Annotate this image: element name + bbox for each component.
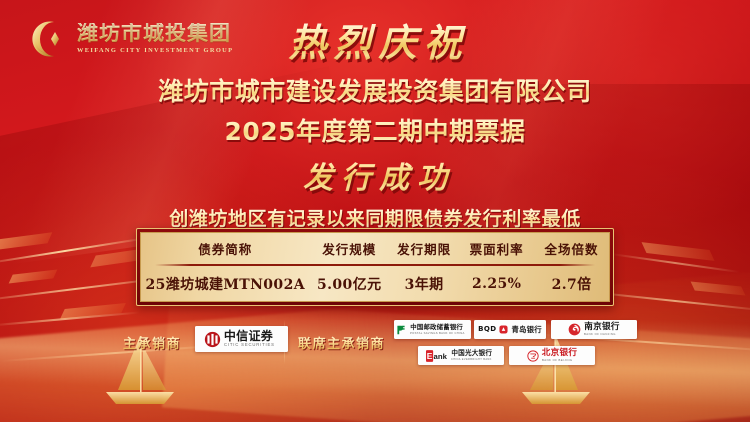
logo-psbc-cn: 中国邮政储蓄银行 — [410, 324, 469, 330]
logo-bqd-en: BQD — [478, 326, 496, 333]
column-header-subscription-multiple: 全场倍数 — [534, 234, 609, 264]
celebration-poster: 潍坊市城投集团 WEIFANG CITY INVESTMENT GROUP 热烈… — [0, 0, 750, 422]
headline-block: 热烈庆祝 潍坊市城市建设发展投资集团有限公司 2025年度第二期中期票据 发行成… — [0, 22, 750, 231]
svg-text:E: E — [427, 351, 433, 361]
logo-citic-securities: 中信证券 CITIC SECURITIES — [195, 326, 288, 352]
cell-subscription-multiple: 2.7倍 — [534, 266, 609, 300]
logo-bqd-cn: 青岛银行 — [511, 326, 541, 333]
logo-citic-cn: 中信证券 — [224, 330, 279, 342]
postal-bank-icon — [395, 324, 407, 336]
column-header-issue-term: 发行期限 — [389, 234, 459, 264]
lead-underwriter-label: 主承销商 — [123, 333, 181, 352]
logo-citic-en: CITIC SECURITIES — [224, 343, 275, 347]
everbright-bank-icon: E ank — [426, 350, 448, 362]
logo-beijing-en: BANK OF BEIJING — [542, 359, 575, 362]
citic-seal-icon — [204, 331, 221, 348]
cell-issue-term: 3年期 — [389, 266, 459, 300]
beijing-bank-icon — [527, 350, 539, 362]
logo-china-everbright-bank: E ank 中国光大银行 CHINA EVERBRIGHT BANK — [418, 346, 504, 365]
logo-psbc-en: POSTAL SAVINGS BANK OF CHINA — [410, 332, 465, 335]
column-header-bond-name: 债券简称 — [141, 234, 309, 264]
column-header-issue-size: 发行规模 — [309, 234, 389, 264]
logo-bank-of-qingdao: BQD 青岛银行 — [474, 320, 546, 339]
issue-description: 2025年度第二期中期票据 — [0, 112, 750, 148]
ribbon-shard-decor — [9, 269, 58, 283]
svg-text:ank: ank — [434, 352, 448, 361]
cell-issue-size: 5.00亿元 — [309, 266, 389, 300]
table-header-row: 债券简称 发行规模 发行期限 票面利率 全场倍数 — [141, 234, 609, 264]
column-header-coupon-rate: 票面利率 — [459, 234, 534, 264]
bond-summary-table: 债券简称 发行规模 发行期限 票面利率 全场倍数 25潍坊城建MTN002A 5… — [136, 228, 614, 306]
headline-subtitle: 创潍坊地区有记录以来同期限债券发行利率最低 — [0, 204, 750, 231]
cell-coupon-rate: 2.25% — [459, 266, 534, 300]
logo-nanjing-en: BANK OF NANJING — [584, 333, 617, 336]
logo-bank-of-beijing: 北京银行 BANK OF BEIJING — [509, 346, 595, 365]
logo-beijing-cn: 北京银行 — [542, 349, 578, 358]
logo-everbright-cn: 中国光大银行 — [451, 350, 495, 357]
logo-nanjing-cn: 南京银行 — [584, 323, 620, 332]
nanjing-rose-icon — [568, 323, 581, 336]
celebrate-title: 热烈庆祝 — [0, 22, 750, 65]
joint-underwriter-label: 联席主承销商 — [298, 333, 385, 352]
ribbon-shard-decor — [0, 232, 52, 250]
company-full-name: 潍坊市城市建设发展投资集团有限公司 — [0, 72, 750, 108]
qingdao-bank-icon — [499, 325, 508, 334]
logo-everbright-en: CHINA EVERBRIGHT BANK — [451, 358, 492, 361]
logo-bank-of-nanjing: 南京银行 BANK OF NANJING — [551, 320, 637, 339]
success-title: 发行成功 — [0, 153, 750, 197]
cell-bond-name: 25潍坊城建MTN002A — [141, 266, 309, 300]
logo-postal-savings-bank: 中国邮政储蓄银行 POSTAL SAVINGS BANK OF CHINA — [394, 320, 471, 339]
table-row: 25潍坊城建MTN002A 5.00亿元 3年期 2.25% 2.7倍 — [141, 266, 609, 300]
